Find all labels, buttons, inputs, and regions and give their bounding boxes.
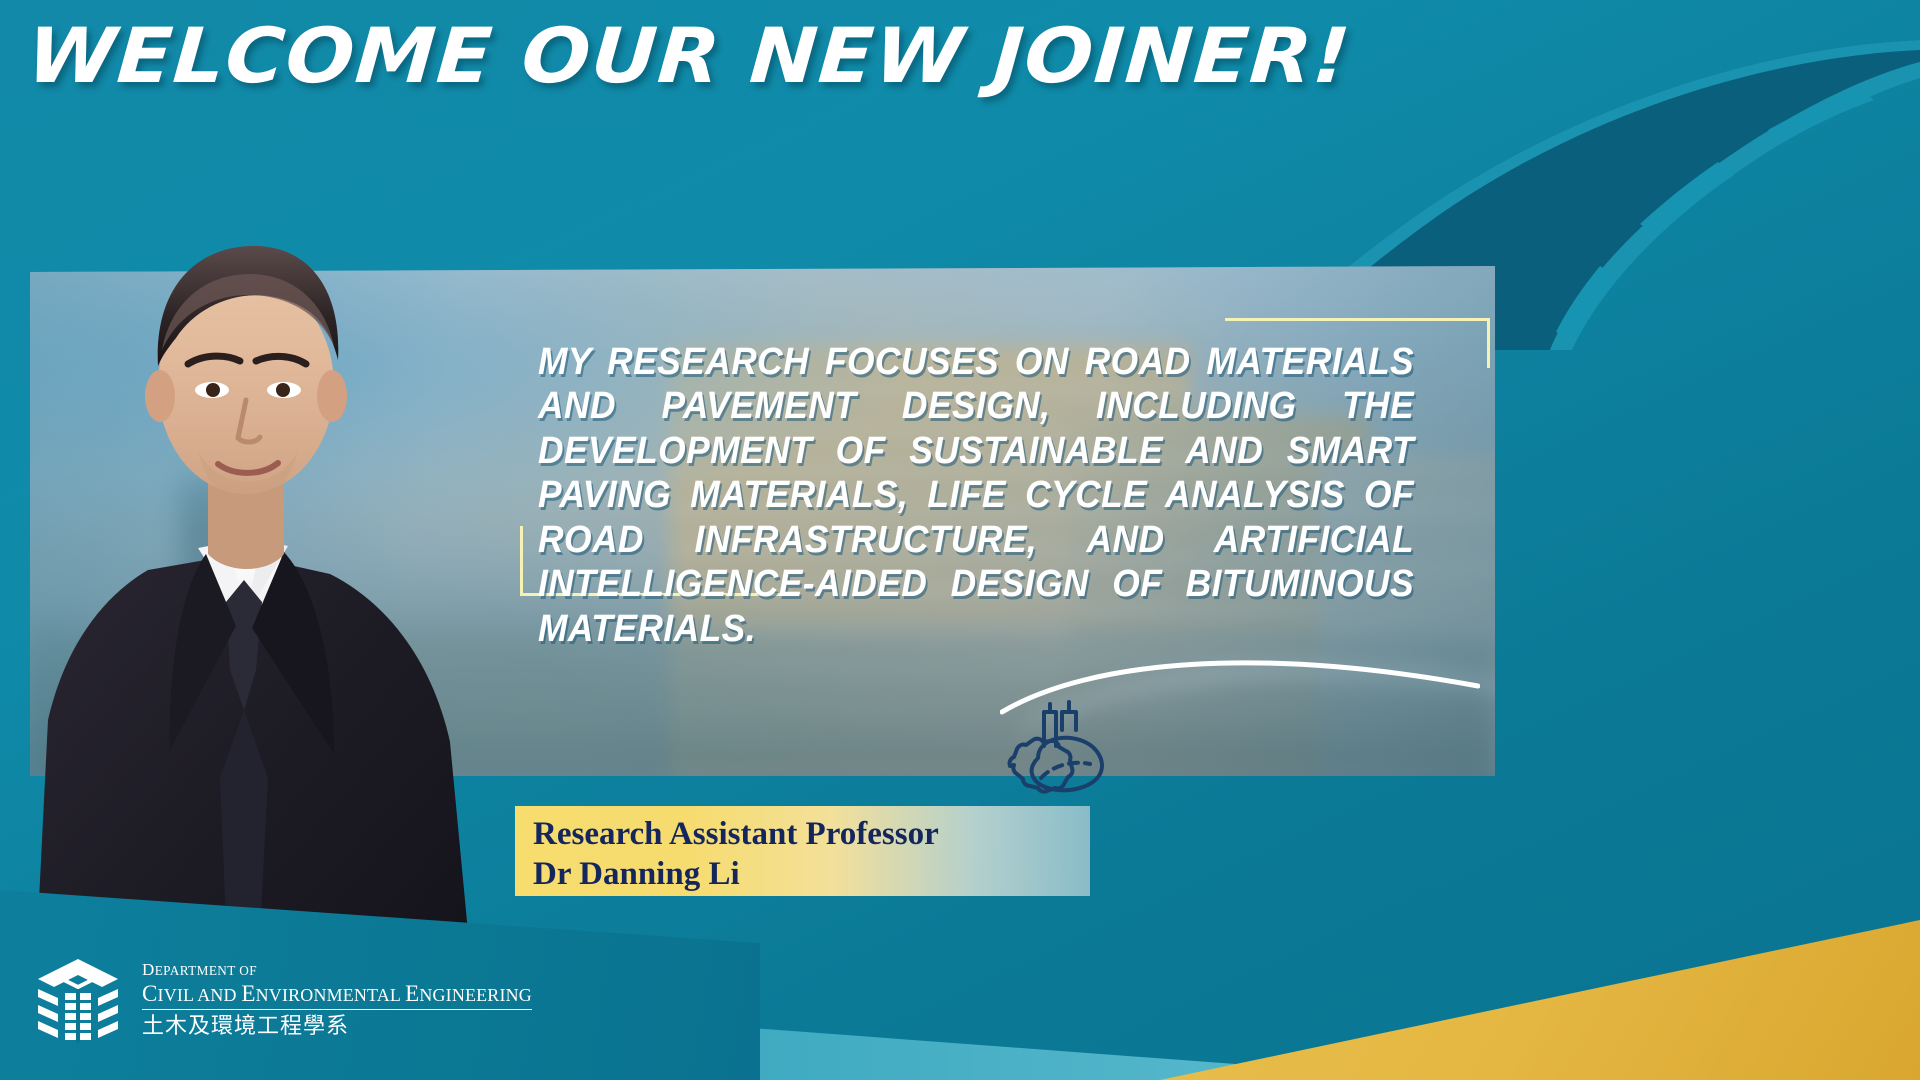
nameplate: Research Assistant Professor Dr Danning … — [515, 806, 1090, 896]
page-title: WELCOME OUR NEW JOINER! — [25, 18, 1354, 94]
logo-line-faculty: CIVIL AND ENVIRONMENTAL ENGINEERING — [142, 981, 532, 1010]
logo-line-chinese: 土木及環境工程學系 — [142, 1013, 532, 1042]
ceed-building-logo-icon — [32, 955, 124, 1047]
logo-line-department: DEPARTMENT OF — [142, 960, 532, 980]
department-logo: DEPARTMENT OF CIVIL AND ENVIRONMENTAL EN… — [32, 955, 532, 1047]
welcome-poster: WELCOME OUR NEW JOINER! MY RESEARCH FOCU… — [0, 0, 1920, 1080]
quote-block: MY RESEARCH FOCUSES ON ROAD MATERIALS AN… — [520, 318, 1490, 588]
nameplate-role: Research Assistant Professor — [533, 815, 1090, 855]
research-statement: MY RESEARCH FOCUSES ON ROAD MATERIALS AN… — [538, 340, 1414, 696]
nameplate-name: Dr Danning Li — [533, 855, 1090, 895]
